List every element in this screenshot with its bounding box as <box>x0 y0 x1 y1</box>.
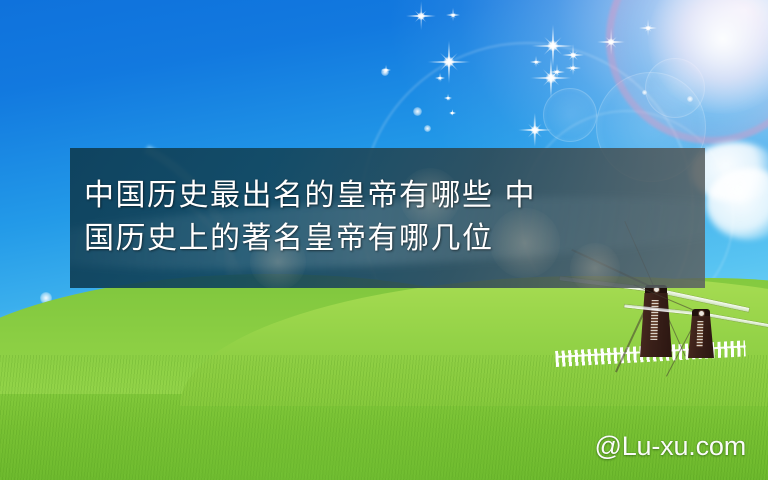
banner-title-line-1: 中国历史最出名的皇帝有哪些 中 <box>84 175 691 218</box>
windmill-sail-lattice <box>697 321 704 347</box>
banner-title-line-2: 国历史上的著名皇帝有哪几位 <box>84 218 691 261</box>
title-overlay-band: 中国历史最出名的皇帝有哪些 中 国历史上的著名皇帝有哪几位 <box>70 148 705 288</box>
windmill-hub <box>698 310 705 317</box>
banner-title: 中国历史最出名的皇帝有哪些 中 国历史上的著名皇帝有哪几位 <box>70 148 705 288</box>
banner-image: 中国历史最出名的皇帝有哪些 中 国历史上的著名皇帝有哪几位 @Lu-xu.com <box>0 0 768 480</box>
watermark: @Lu-xu.com <box>595 431 746 462</box>
